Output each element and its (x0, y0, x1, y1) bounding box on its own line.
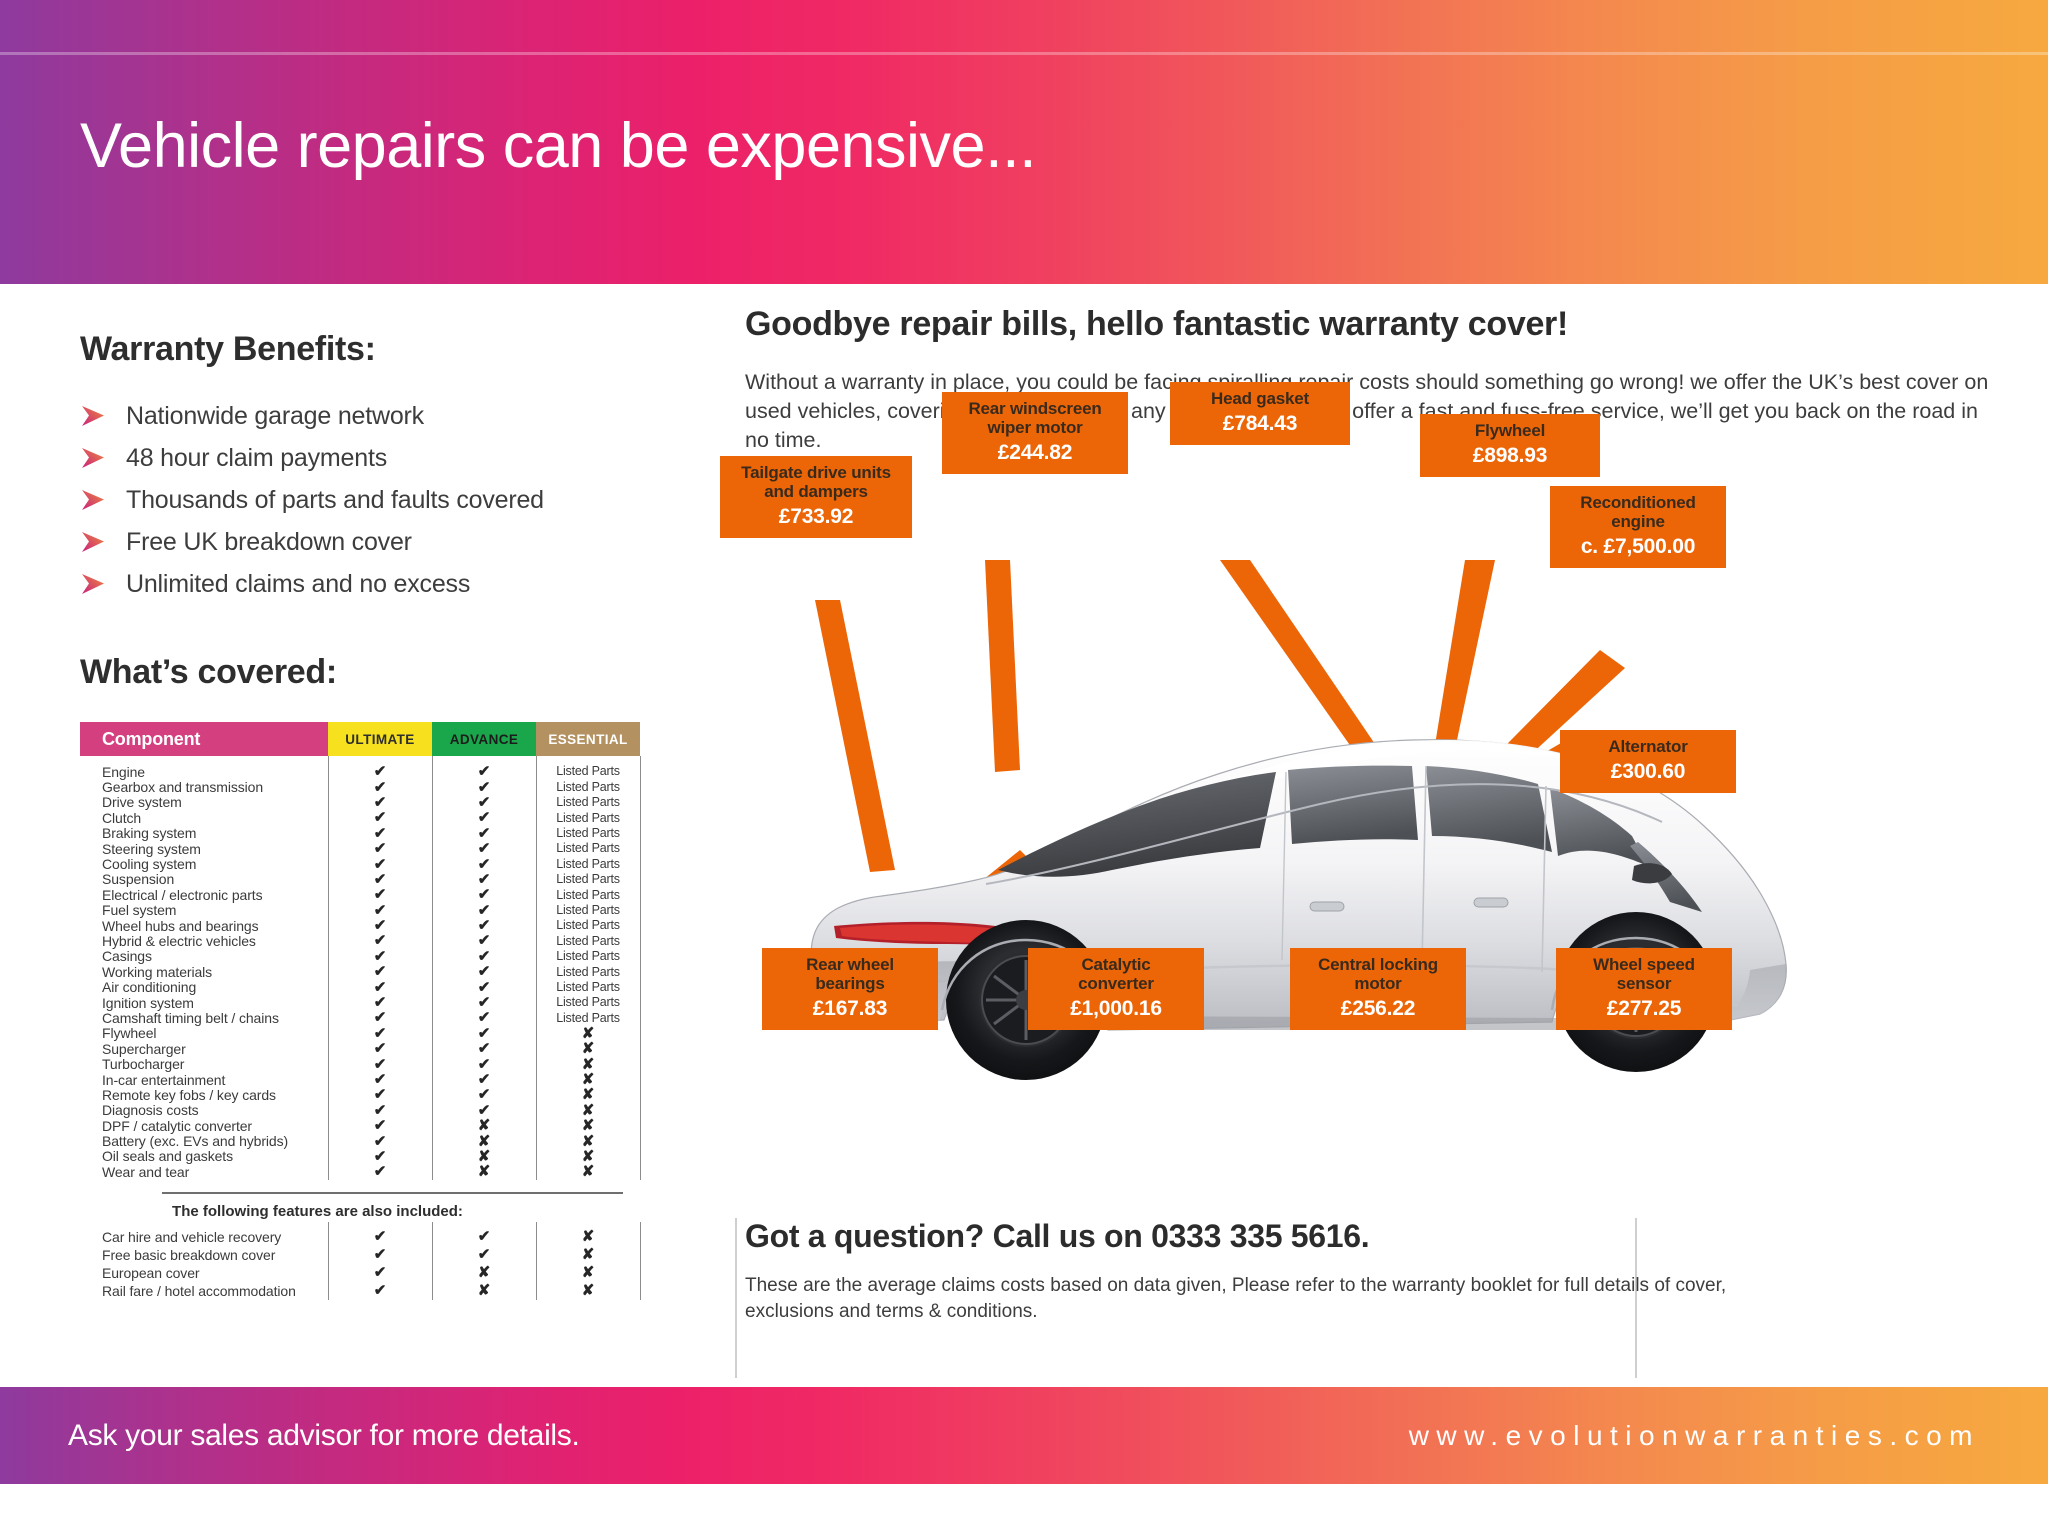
footer-website[interactable]: www.evolutionwarranties.com (1409, 1420, 1980, 1452)
cell-ultimate: ✔ (328, 887, 432, 902)
cell-essential: Listed Parts (536, 996, 640, 1009)
table-row: DPF / catalytic converter✔✘✘ (80, 1118, 645, 1133)
table-row: Casings✔✔Listed Parts (80, 949, 645, 964)
table-row: Wear and tear✔✘✘ (80, 1164, 645, 1179)
cell-essential: Listed Parts (536, 950, 640, 963)
cell-essential: Listed Parts (536, 812, 640, 825)
cell-component: Battery (exc. EVs and hybrids) (80, 1133, 328, 1149)
cell-essential: ✘ (536, 1103, 640, 1118)
cell-advance: ✔ (432, 887, 536, 902)
cell-essential: Listed Parts (536, 873, 640, 886)
question-note: These are the average claims costs based… (745, 1273, 1745, 1325)
callout-label: Flywheel (1436, 421, 1584, 440)
chevron-right-icon (80, 405, 108, 427)
list-item-label: Nationwide garage network (126, 402, 424, 431)
cell-advance: ✔ (432, 857, 536, 872)
table-row: Clutch✔✔Listed Parts (80, 810, 645, 825)
cell-advance: ✔ (432, 841, 536, 856)
cell-component: Drive system (80, 794, 328, 810)
cell-component: Cooling system (80, 856, 328, 872)
table-body: Engine✔✔Listed PartsGearbox and transmis… (80, 756, 645, 1180)
cell-component: Wear and tear (80, 1164, 328, 1180)
cell-component: European cover (80, 1265, 328, 1281)
table-header-row: Component ULTIMATE ADVANCE ESSENTIAL (80, 722, 645, 756)
cell-ultimate: ✔ (328, 1057, 432, 1072)
cell-advance: ✔ (432, 1041, 536, 1056)
cell-component: Gearbox and transmission (80, 779, 328, 795)
cell-advance: ✘ (432, 1149, 536, 1164)
cell-component: Car hire and vehicle recovery (80, 1229, 328, 1245)
callout-catalytic-converter[interactable]: Catalytic converter £1,000.16 (1028, 948, 1204, 1030)
cell-component: Ignition system (80, 995, 328, 1011)
callout-price: £167.83 (778, 997, 922, 1021)
banner-divider (0, 52, 2048, 55)
table-row: Working materials✔✔Listed Parts (80, 964, 645, 979)
cell-component: Steering system (80, 841, 328, 857)
callout-price: £1,000.16 (1044, 997, 1188, 1021)
cell-advance: ✔ (432, 810, 536, 825)
chevron-right-icon (80, 531, 108, 553)
list-item: Thousands of parts and faults covered (80, 479, 640, 521)
cell-advance: ✔ (432, 826, 536, 841)
cell-ultimate: ✔ (328, 1118, 432, 1133)
table-row: Turbocharger✔✔✘ (80, 1056, 645, 1071)
callout-label: Catalytic converter (1044, 955, 1188, 993)
cell-ultimate: ✔ (328, 1229, 432, 1244)
callout-label: Rear wheel bearings (778, 955, 922, 993)
cell-ultimate: ✔ (328, 949, 432, 964)
cell-advance: ✔ (432, 1087, 536, 1102)
cell-advance: ✔ (432, 1103, 536, 1118)
cell-ultimate: ✔ (328, 1010, 432, 1025)
cell-ultimate: ✔ (328, 995, 432, 1010)
callout-rear-windscreen-wiper-motor[interactable]: Rear windscreen wiper motor £244.82 (942, 392, 1128, 474)
table-row: Suspension✔✔Listed Parts (80, 872, 645, 887)
column-header-essential: ESSENTIAL (536, 722, 640, 756)
cell-advance: ✔ (432, 903, 536, 918)
table-row: Air conditioning✔✔Listed Parts (80, 979, 645, 994)
cell-advance: ✘ (432, 1118, 536, 1133)
cell-ultimate: ✔ (328, 1265, 432, 1280)
table-row: Battery (exc. EVs and hybrids)✔✘✘ (80, 1133, 645, 1148)
cell-component: Electrical / electronic parts (80, 887, 328, 903)
cell-advance: ✘ (432, 1134, 536, 1149)
callout-wheel-speed-sensor[interactable]: Wheel speed sensor £277.25 (1556, 948, 1732, 1030)
cell-essential: ✘ (536, 1072, 640, 1087)
table-row: Drive system✔✔Listed Parts (80, 795, 645, 810)
right-heading: Goodbye repair bills, hello fantastic wa… (745, 305, 1990, 344)
features-body: Car hire and vehicle recovery✔✔✘Free bas… (80, 1222, 645, 1300)
car-diagram: Tailgate drive units and dampers £733.92… (720, 500, 2040, 1200)
cell-ultimate: ✔ (328, 841, 432, 856)
cell-advance: ✘ (432, 1265, 536, 1280)
cell-component: In-car entertainment (80, 1072, 328, 1088)
cell-ultimate: ✔ (328, 872, 432, 887)
callout-price: c. £7,500.00 (1566, 535, 1710, 559)
cell-ultimate: ✔ (328, 980, 432, 995)
page-title: Vehicle repairs can be expensive... (80, 112, 1036, 181)
cell-essential: ✘ (536, 1164, 640, 1179)
cell-component: Free basic breakdown cover (80, 1247, 328, 1263)
chevron-right-icon (80, 447, 108, 469)
callout-label: Central locking motor (1306, 955, 1450, 993)
callout-central-locking-motor[interactable]: Central locking motor £256.22 (1290, 948, 1466, 1030)
footer-padding (0, 1484, 2048, 1536)
cell-advance: ✔ (432, 1072, 536, 1087)
cell-component: Turbocharger (80, 1056, 328, 1072)
cell-ultimate: ✔ (328, 1134, 432, 1149)
cell-ultimate: ✔ (328, 918, 432, 933)
cell-ultimate: ✔ (328, 764, 432, 779)
cell-advance: ✘ (432, 1283, 536, 1298)
callout-flywheel[interactable]: Flywheel £898.93 (1420, 414, 1600, 477)
cell-ultimate: ✔ (328, 810, 432, 825)
cell-ultimate: ✔ (328, 1103, 432, 1118)
table-row: Engine✔✔Listed Parts (80, 764, 645, 779)
cell-ultimate: ✔ (328, 1041, 432, 1056)
table-row: In-car entertainment✔✔✘ (80, 1072, 645, 1087)
cell-essential: Listed Parts (536, 966, 640, 979)
table-row: Flywheel✔✔✘ (80, 1026, 645, 1041)
cell-ultimate: ✔ (328, 1247, 432, 1262)
cell-ultimate: ✔ (328, 1087, 432, 1102)
question-rule-left (735, 1218, 737, 1378)
cell-advance: ✔ (432, 918, 536, 933)
cell-essential: ✘ (536, 1247, 640, 1262)
list-item-label: Thousands of parts and faults covered (126, 486, 544, 515)
list-item: Unlimited claims and no excess (80, 563, 640, 605)
table-row: Camshaft timing belt / chains✔✔Listed Pa… (80, 1010, 645, 1025)
cell-ultimate: ✔ (328, 1283, 432, 1298)
cell-component: Diagnosis costs (80, 1102, 328, 1118)
list-item-label: 48 hour claim payments (126, 444, 387, 473)
callout-rear-wheel-bearings[interactable]: Rear wheel bearings £167.83 (762, 948, 938, 1030)
cell-advance: ✔ (432, 980, 536, 995)
cell-essential: Listed Parts (536, 858, 640, 871)
callout-price: £244.82 (958, 441, 1112, 465)
cell-advance: ✔ (432, 1026, 536, 1041)
cell-component: Wheel hubs and bearings (80, 918, 328, 934)
cell-advance: ✔ (432, 949, 536, 964)
cell-essential: Listed Parts (536, 781, 640, 794)
callout-head-gasket[interactable]: Head gasket £784.43 (1170, 382, 1350, 445)
cell-ultimate: ✔ (328, 1026, 432, 1041)
cell-component: Fuel system (80, 902, 328, 918)
cell-ultimate: ✔ (328, 1164, 432, 1179)
cell-ultimate: ✔ (328, 1149, 432, 1164)
table-row: Hybrid & electric vehicles✔✔Listed Parts (80, 933, 645, 948)
cell-essential: ✘ (536, 1134, 640, 1149)
list-item: Free UK breakdown cover (80, 521, 640, 563)
cell-essential: Listed Parts (536, 889, 640, 902)
question-block: Got a question? Call us on 0333 335 5616… (745, 1218, 1745, 1325)
cell-ultimate: ✔ (328, 780, 432, 795)
callout-price: £784.43 (1186, 412, 1334, 436)
table-row: Supercharger✔✔✘ (80, 1041, 645, 1056)
cell-component: Suspension (80, 871, 328, 887)
table-row: Diagnosis costs✔✔✘ (80, 1103, 645, 1118)
cell-essential: Listed Parts (536, 904, 640, 917)
cell-advance: ✔ (432, 1247, 536, 1262)
benefits-list: Nationwide garage network 48 hour claim … (80, 395, 640, 605)
cell-advance: ✔ (432, 1010, 536, 1025)
warranty-benefits-heading: Warranty Benefits: (80, 330, 640, 369)
cell-component: Hybrid & electric vehicles (80, 933, 328, 949)
whats-covered-heading: What’s covered: (80, 653, 640, 692)
table-row: Braking system✔✔Listed Parts (80, 826, 645, 841)
cell-component: Oil seals and gaskets (80, 1148, 328, 1164)
cell-essential: Listed Parts (536, 796, 640, 809)
table-row: European cover✔✘✘ (80, 1264, 645, 1282)
cell-advance: ✔ (432, 872, 536, 887)
cell-essential: Listed Parts (536, 935, 640, 948)
table-row: Cooling system✔✔Listed Parts (80, 856, 645, 871)
cell-component: Engine (80, 764, 328, 780)
table-row: Rail fare / hotel accommodation✔✘✘ (80, 1282, 645, 1300)
cell-essential: Listed Parts (536, 919, 640, 932)
table-row: Oil seals and gaskets✔✘✘ (80, 1149, 645, 1164)
cell-component: Flywheel (80, 1025, 328, 1041)
cell-component: Camshaft timing belt / chains (80, 1010, 328, 1026)
callout-price: £256.22 (1306, 997, 1450, 1021)
callout-tailgate-drive-units[interactable]: Tailgate drive units and dampers £733.92 (720, 456, 912, 538)
right-paragraph: Without a warranty in place, you could b… (745, 368, 1990, 454)
table-row: Car hire and vehicle recovery✔✔✘ (80, 1228, 645, 1246)
cell-component: Remote key fobs / key cards (80, 1087, 328, 1103)
callout-price: £277.25 (1572, 997, 1716, 1021)
cell-essential: ✘ (536, 1149, 640, 1164)
column-header-component: Component (80, 722, 328, 756)
table-row: Steering system✔✔Listed Parts (80, 841, 645, 856)
table-row: Electrical / electronic parts✔✔Listed Pa… (80, 887, 645, 902)
list-item-label: Free UK breakdown cover (126, 528, 412, 557)
callout-price: £300.60 (1576, 760, 1720, 784)
cell-essential: ✘ (536, 1087, 640, 1102)
table-row: Fuel system✔✔Listed Parts (80, 903, 645, 918)
callout-label: Rear windscreen wiper motor (958, 399, 1112, 437)
coverage-table: Component ULTIMATE ADVANCE ESSENTIAL Eng… (80, 722, 645, 1300)
list-item: 48 hour claim payments (80, 437, 640, 479)
footer-banner: Ask your sales advisor for more details.… (0, 1387, 2048, 1484)
cell-advance: ✔ (432, 795, 536, 810)
cell-essential: ✘ (536, 1057, 640, 1072)
top-banner: Vehicle repairs can be expensive... (0, 0, 2048, 284)
right-column: Goodbye repair bills, hello fantastic wa… (745, 305, 1990, 454)
callout-price: £733.92 (736, 505, 896, 529)
cell-essential: Listed Parts (536, 765, 640, 778)
cell-essential: ✘ (536, 1026, 640, 1041)
cell-advance: ✔ (432, 1229, 536, 1244)
cell-essential: ✘ (536, 1265, 640, 1280)
callout-label: Alternator (1576, 737, 1720, 756)
callout-label: Head gasket (1186, 389, 1334, 408)
chevron-right-icon (80, 489, 108, 511)
cell-ultimate: ✔ (328, 903, 432, 918)
table-row: Wheel hubs and bearings✔✔Listed Parts (80, 918, 645, 933)
chevron-right-icon (80, 573, 108, 595)
callout-alternator[interactable]: Alternator £300.60 (1560, 730, 1736, 793)
cell-essential: Listed Parts (536, 827, 640, 840)
cell-advance: ✔ (432, 780, 536, 795)
cell-component: Working materials (80, 964, 328, 980)
callout-price: £898.93 (1436, 444, 1584, 468)
cell-essential: ✘ (536, 1041, 640, 1056)
table-row: Remote key fobs / key cards✔✔✘ (80, 1087, 645, 1102)
cell-essential: ✘ (536, 1118, 640, 1133)
cell-component: Supercharger (80, 1041, 328, 1057)
cell-ultimate: ✔ (328, 826, 432, 841)
footer-cta-text: Ask your sales advisor for more details. (68, 1419, 580, 1453)
cell-component: Rail fare / hotel accommodation (80, 1283, 328, 1299)
callout-label: Wheel speed sensor (1572, 955, 1716, 993)
left-column: Warranty Benefits: Nationwide garage net… (80, 330, 640, 1300)
cell-essential: ✘ (536, 1283, 640, 1298)
cell-advance: ✔ (432, 964, 536, 979)
cell-essential: Listed Parts (536, 981, 640, 994)
cell-essential: Listed Parts (536, 1012, 640, 1025)
cell-advance: ✘ (432, 1164, 536, 1179)
cell-essential: ✘ (536, 1229, 640, 1244)
callout-reconditioned-engine[interactable]: Reconditioned engine c. £7,500.00 (1550, 486, 1726, 568)
cell-ultimate: ✔ (328, 857, 432, 872)
table-row: Ignition system✔✔Listed Parts (80, 995, 645, 1010)
cell-ultimate: ✔ (328, 1072, 432, 1087)
cell-component: Casings (80, 948, 328, 964)
cell-essential: Listed Parts (536, 842, 640, 855)
cell-component: Air conditioning (80, 979, 328, 995)
cell-component: Clutch (80, 810, 328, 826)
cell-advance: ✔ (432, 995, 536, 1010)
cell-advance: ✔ (432, 1057, 536, 1072)
question-heading: Got a question? Call us on 0333 335 5616… (745, 1218, 1745, 1255)
cell-ultimate: ✔ (328, 795, 432, 810)
list-item-label: Unlimited claims and no excess (126, 570, 470, 599)
cell-advance: ✔ (432, 933, 536, 948)
table-row: Gearbox and transmission✔✔Listed Parts (80, 779, 645, 794)
callout-label: Tailgate drive units and dampers (736, 463, 896, 501)
callout-label: Reconditioned engine (1566, 493, 1710, 531)
features-title: The following features are also included… (80, 1194, 555, 1222)
table-row: Free basic breakdown cover✔✔✘ (80, 1246, 645, 1264)
list-item: Nationwide garage network (80, 395, 640, 437)
column-header-advance: ADVANCE (432, 722, 536, 756)
cell-ultimate: ✔ (328, 933, 432, 948)
cell-advance: ✔ (432, 764, 536, 779)
column-header-ultimate: ULTIMATE (328, 722, 432, 756)
cell-ultimate: ✔ (328, 964, 432, 979)
cell-component: DPF / catalytic converter (80, 1118, 328, 1134)
cell-component: Braking system (80, 825, 328, 841)
